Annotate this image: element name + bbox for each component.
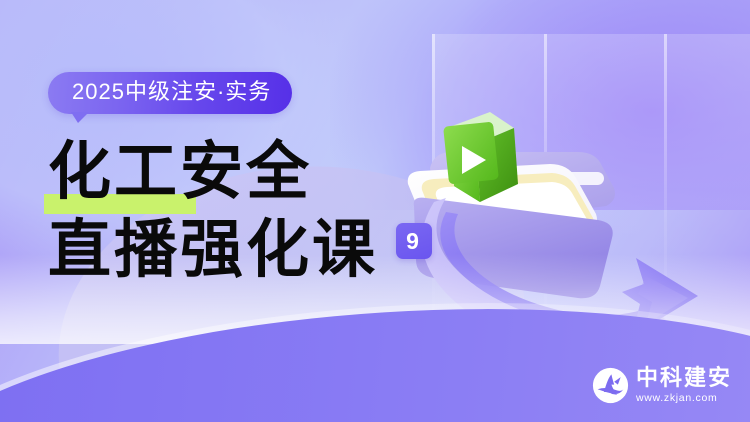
course-title-line-1: 化工安全 [48, 140, 468, 204]
zkjan-circle-logo-icon [592, 367, 629, 404]
logo-text-group: 中科建安 www.zkjan.com [636, 367, 732, 404]
brand-logo[interactable]: 中科建安 www.zkjan.com [592, 367, 732, 404]
course-category-badge: 2025中级注安·实务 [48, 72, 292, 114]
course-title-line-2: 直播强化课 9 [48, 218, 468, 282]
course-title: 化工安全 直播强化课 9 [48, 140, 468, 283]
headline-block: 2025中级注安·实务 化工安全 直播强化课 9 [48, 72, 468, 282]
course-promo-banner: 2025中级注安·实务 化工安全 直播强化课 9 中科建安 www.zkjan.… [0, 0, 750, 422]
episode-number-badge: 9 [396, 223, 432, 259]
company-name: 中科建安 [636, 367, 732, 389]
company-website: www.zkjan.com [636, 393, 732, 404]
